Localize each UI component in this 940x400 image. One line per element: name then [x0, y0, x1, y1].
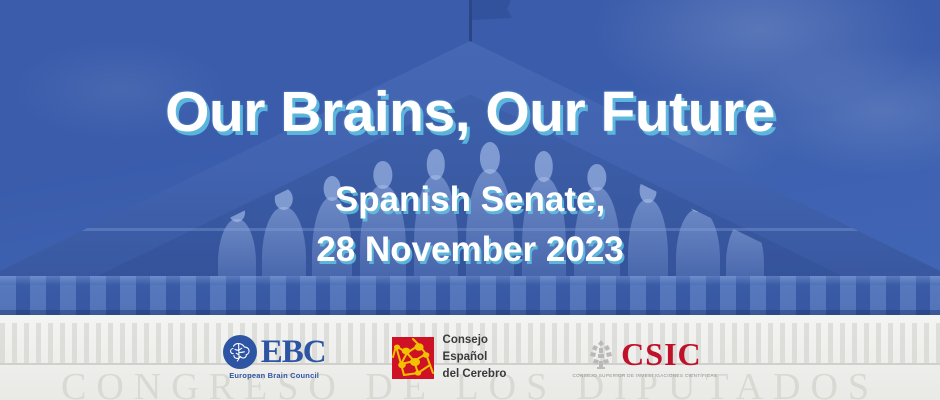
cec-line-1: Consejo: [443, 332, 507, 349]
ebc-lockup: EBC: [223, 335, 326, 369]
brain-icon: [223, 335, 257, 369]
csic-wordmark: CSIC: [621, 338, 701, 370]
cec-line-2: Español: [443, 349, 507, 366]
event-banner: Our Brains, Our Future Spanish Senate, 2…: [0, 0, 940, 400]
cec-line-3: del Cerebro: [443, 366, 507, 383]
logo-ebc[interactable]: EBC European Brain Council: [223, 335, 326, 380]
neuron-network-icon: [392, 337, 434, 379]
cornice-dentil-band: [0, 276, 940, 315]
event-date: 28 November 2023: [0, 225, 940, 275]
logo-csic[interactable]: CSIC CONSEJO SUPERIOR DE INVESTIGACIONES…: [572, 338, 717, 378]
flag-icon: [472, 0, 512, 20]
ebc-caption: European Brain Council: [229, 371, 319, 380]
sponsor-logo-row: EBC European Brain Council: [0, 315, 940, 400]
logo-consejo-espanol-del-cerebro[interactable]: Consejo Español del Cerebro: [392, 332, 507, 384]
ebc-wordmark: EBC: [261, 336, 326, 369]
csic-crest-icon: [588, 339, 614, 369]
event-venue: Spanish Senate,: [0, 175, 940, 225]
csic-lockup: CSIC: [588, 338, 701, 370]
event-subtitle: Spanish Senate, 28 November 2023: [0, 175, 940, 274]
csic-caption: CONSEJO SUPERIOR DE INVESTIGACIONES CIEN…: [572, 372, 717, 377]
cec-wordmark: Consejo Español del Cerebro: [443, 332, 507, 384]
sponsor-footer: CONGRESO DE LOS DIPUTADOS: [0, 315, 940, 400]
page-title: Our Brains, Our Future: [0, 82, 940, 142]
